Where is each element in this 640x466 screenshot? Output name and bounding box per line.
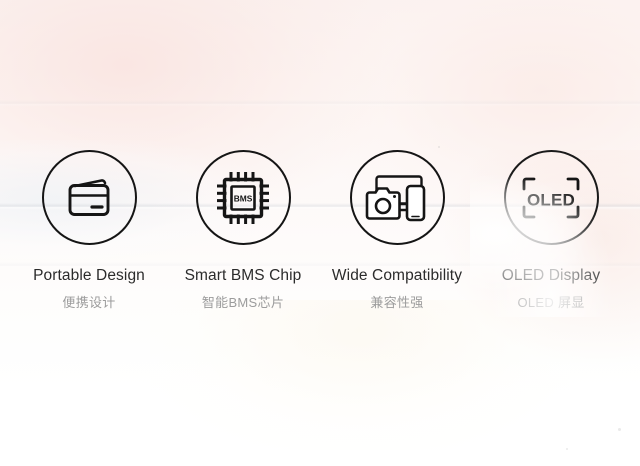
feature-label-en: Portable Design	[33, 267, 145, 285]
paper-speck	[566, 448, 568, 450]
feature-item-portable-design[interactable]: Portable Design 便携设计	[14, 150, 164, 311]
feature-icon-circle: OLED	[504, 150, 599, 245]
feature-graphic: Portable Design 便携设计	[0, 0, 640, 466]
feature-label-zh: 智能BMS芯片	[202, 296, 284, 311]
paper-speck	[438, 146, 440, 148]
bms-chip-icon-text: BMS	[234, 193, 253, 203]
feature-list: Portable Design 便携设计	[0, 150, 640, 311]
wallet-card-icon	[61, 170, 117, 226]
feature-label-en: OLED Display	[502, 267, 601, 285]
feature-item-smart-bms-chip[interactable]: BMS Smart BMS Chip 智能BMS芯片	[168, 150, 318, 311]
bms-chip-icon: BMS	[214, 169, 272, 227]
feature-icon-circle: BMS	[196, 150, 291, 245]
oled-frame-icon-text: OLED	[527, 190, 575, 209]
feature-label-zh: 兼容性强	[370, 296, 423, 311]
feature-item-oled-display[interactable]: OLED OLED Display OLED 屏显	[476, 150, 626, 311]
oled-frame-icon: OLED	[520, 175, 582, 221]
feature-label-en: Smart BMS Chip	[185, 267, 302, 285]
feature-label-zh: 便携设计	[62, 296, 115, 311]
feature-label-zh: OLED 屏显	[517, 296, 584, 311]
feature-icon-circle	[350, 150, 445, 245]
devices-compatibility-icon	[365, 168, 429, 228]
paper-speck	[618, 428, 621, 431]
feature-label-en: Wide Compatibility	[332, 267, 462, 285]
paper-crease-upper	[0, 100, 640, 107]
feature-icon-circle	[42, 150, 137, 245]
feature-item-wide-compatibility[interactable]: Wide Compatibility 兼容性强	[322, 150, 472, 311]
